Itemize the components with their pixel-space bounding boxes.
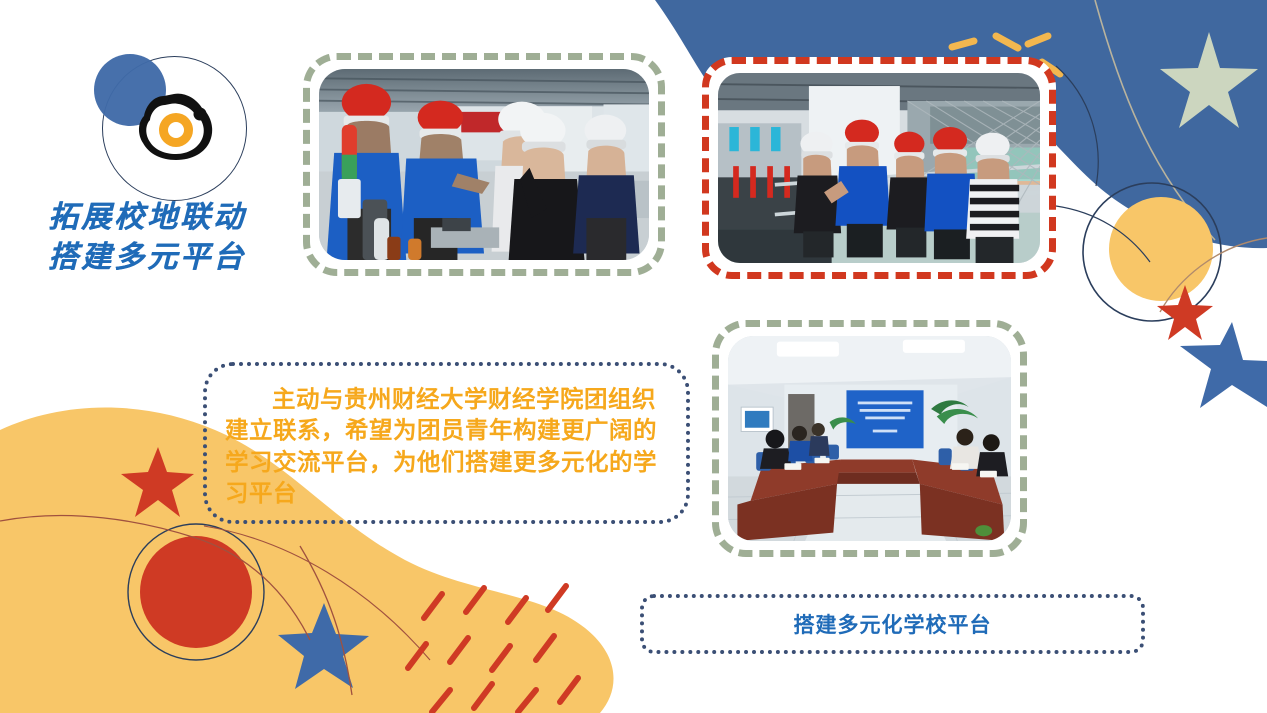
amber-blob-lobe: [0, 454, 211, 713]
camera-icon: [134, 88, 218, 166]
caption-box: 搭建多元化学校平台: [640, 594, 1145, 654]
red-star-bottom: [121, 447, 194, 517]
thin-arc-line-4: [300, 546, 352, 695]
thin-arc-line-1: [1095, 0, 1215, 240]
red-star-right: [1157, 285, 1213, 340]
title-line-2: 搭建多元平台: [48, 238, 296, 278]
navy-ring: [1083, 183, 1221, 321]
photo-factory-b-image: [718, 73, 1040, 263]
photo-factory-b: [702, 57, 1056, 279]
photo-factory-a: [303, 53, 665, 276]
photo-meeting: [712, 320, 1027, 557]
navy-ring-bottom: [128, 524, 264, 660]
body-text-box: 主动与贵州财经大学财经学院团组织建立联系，希望为团员青年构建更广阔的学习交流平台…: [203, 362, 690, 524]
sage-star: [1160, 32, 1258, 128]
thin-arc-line-5: [204, 526, 430, 660]
red-circle: [140, 536, 252, 648]
body-text: 主动与贵州财经大学财经学院团组织建立联系，希望为团员青年构建更广阔的学习交流平台…: [225, 384, 672, 509]
photo-meeting-image: [728, 336, 1011, 541]
thin-arc-line-7: [1056, 206, 1150, 262]
photo-factory-a-image: [319, 69, 649, 260]
caption-text: 搭建多元化学校平台: [794, 609, 992, 639]
thin-arc-line-3: [0, 516, 310, 640]
page-title: 拓展校地联动 搭建多元平台: [48, 198, 296, 277]
brand-block: 拓展校地联动 搭建多元平台: [46, 48, 296, 283]
blue-star-bottom: [278, 603, 369, 689]
title-line-1: 拓展校地联动: [48, 198, 296, 238]
amber-circle: [1109, 197, 1213, 301]
slide-canvas: 拓展校地联动 搭建多元平台: [0, 0, 1267, 713]
thin-arc-line-6: [1056, 66, 1098, 186]
red-hatch-dashes: [408, 586, 578, 712]
thin-arc-line-2: [1160, 238, 1267, 312]
blue-star-right: [1180, 322, 1267, 408]
